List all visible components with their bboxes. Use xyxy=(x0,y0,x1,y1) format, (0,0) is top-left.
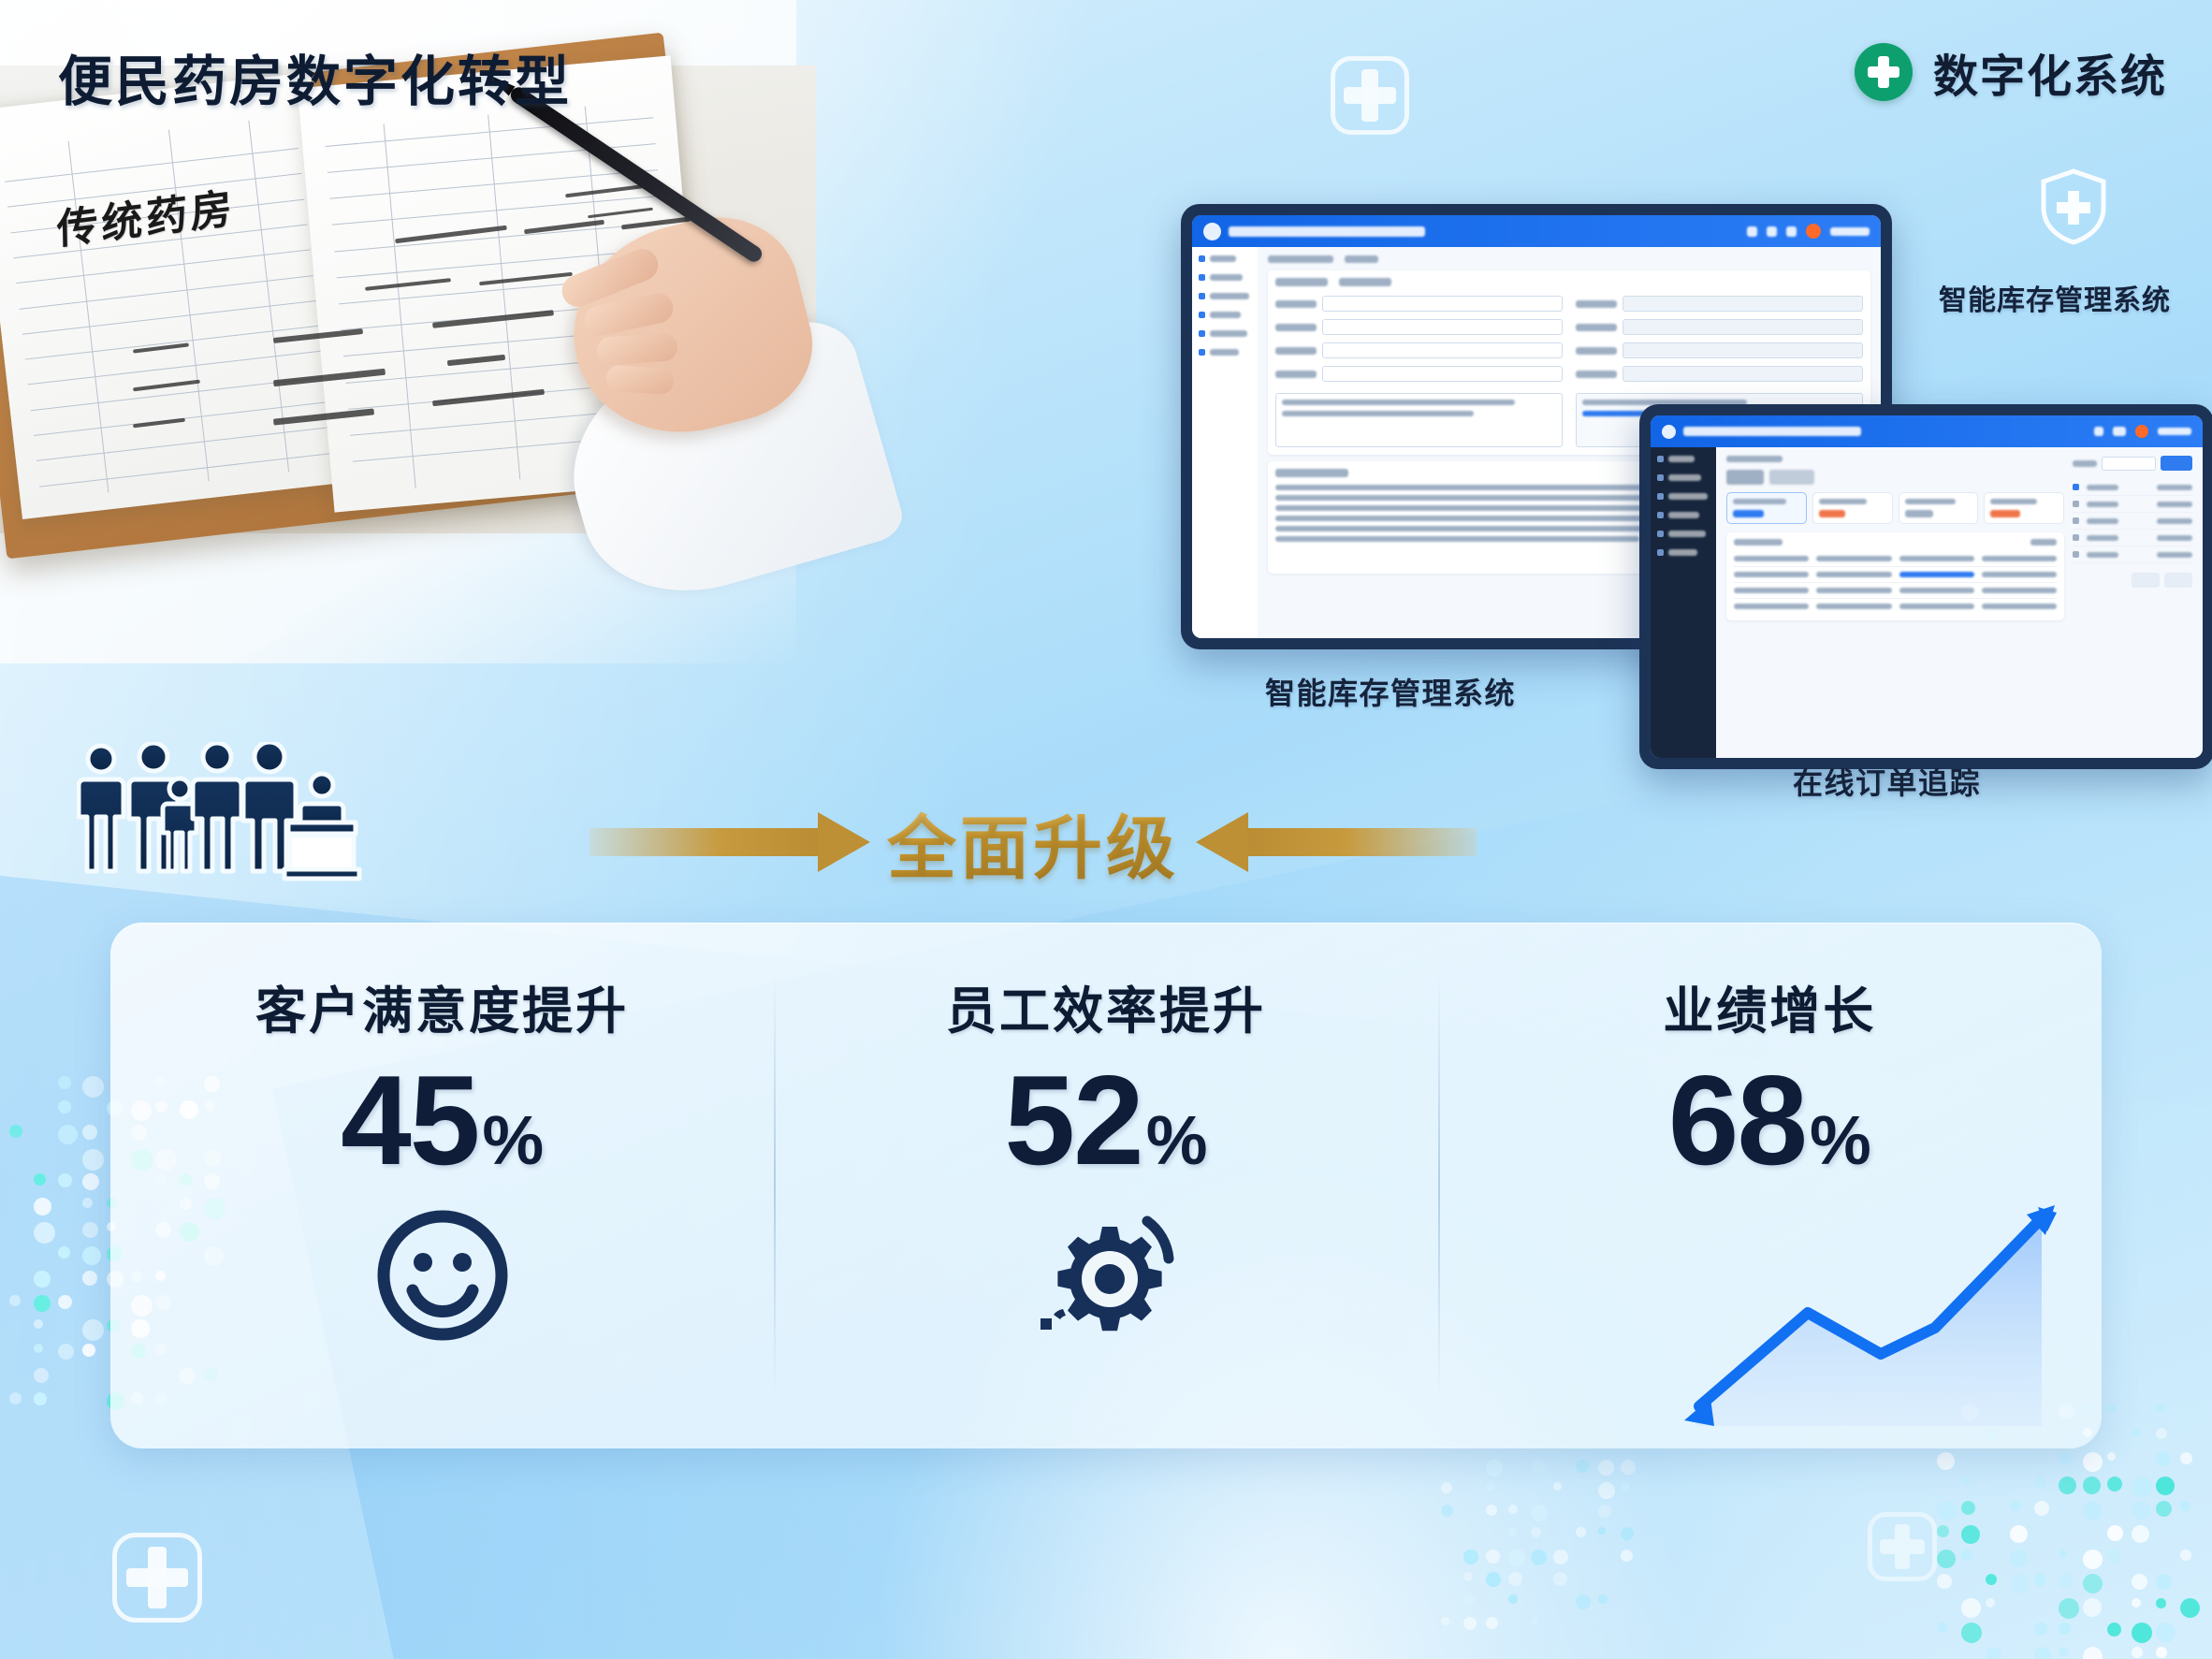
sidebar-item-icon xyxy=(1199,293,1205,299)
stat-label: 业绩增长 xyxy=(1663,969,1876,1043)
breadcrumb-tail-blurred xyxy=(1345,255,1378,263)
search-button[interactable] xyxy=(2161,456,2192,471)
sidebar-item[interactable] xyxy=(1657,474,1710,481)
stat-value: 45 % xyxy=(341,1056,544,1184)
sidebar-item-label-blurred xyxy=(1210,330,1247,337)
form-tab-1[interactable] xyxy=(1275,278,1328,286)
tab-2[interactable] xyxy=(1769,470,1814,485)
sidebar-item-label-blurred xyxy=(1210,349,1239,356)
kpi-card[interactable] xyxy=(1984,492,2064,524)
sidebar-item-icon xyxy=(1657,512,1664,518)
user-name-blurred xyxy=(1830,227,1870,236)
gear-icon xyxy=(1031,1204,1181,1346)
user-avatar[interactable] xyxy=(1806,224,1821,239)
stat-number: 68 xyxy=(1668,1056,1806,1184)
sidebar-item-label-blurred xyxy=(1210,255,1236,262)
stat-value: 52 % xyxy=(1004,1056,1207,1184)
sidebar-item-icon xyxy=(1657,493,1664,500)
rounded-cross-outline-icon-bottom-left xyxy=(112,1533,202,1623)
topbar-action-3[interactable] xyxy=(1786,226,1797,237)
sidebar-item-icon xyxy=(1657,531,1664,537)
user-name-blurred xyxy=(2158,428,2191,435)
tab-1[interactable] xyxy=(1726,470,1764,485)
sidebar-item[interactable] xyxy=(1199,349,1251,356)
finger-ring xyxy=(596,332,678,366)
stat-label: 员工效率提升 xyxy=(946,969,1266,1043)
sidebar-item-label-blurred xyxy=(1210,293,1249,299)
user-avatar[interactable] xyxy=(2135,425,2148,438)
green-cross-badge-icon xyxy=(1855,43,1913,101)
sidebar-item-icon xyxy=(1657,456,1664,462)
sidebar-item-icon xyxy=(1199,312,1205,318)
rounded-cross-outline-icon-top xyxy=(1331,56,1409,135)
sidebar-item-icon xyxy=(1657,549,1664,556)
shield-cross-icon xyxy=(2040,168,2107,245)
kpi-card[interactable] xyxy=(1899,492,1979,524)
table-row[interactable] xyxy=(1734,599,2057,614)
form-row[interactable] xyxy=(1275,296,1563,312)
growth-chart-arrow-icon xyxy=(1667,1173,2070,1445)
sidebar-item[interactable] xyxy=(1199,330,1251,337)
breadcrumb-blurred xyxy=(1268,255,1333,263)
page-title: 便民药房数字化转型 xyxy=(58,37,572,116)
stat-number: 52 xyxy=(1004,1056,1142,1184)
device2-caption: 在线订单追踪 xyxy=(1793,760,1981,803)
hand-writing xyxy=(451,150,844,543)
list-item[interactable] xyxy=(2073,546,2192,563)
form-row[interactable] xyxy=(1275,342,1563,358)
sidebar-item-label-blurred xyxy=(1668,549,1697,556)
finger-pinky xyxy=(605,365,675,396)
device2-main xyxy=(1716,447,2203,758)
traditional-pharmacy-photo: 传统药房 xyxy=(0,65,816,533)
table-row[interactable] xyxy=(1734,567,2057,583)
topbar-action-2[interactable] xyxy=(1767,226,1777,237)
form-row[interactable] xyxy=(1576,319,1863,335)
topbar-action-1[interactable] xyxy=(1747,226,1757,237)
stat-value: 68 % xyxy=(1668,1056,1871,1184)
orders-table xyxy=(1726,532,2064,620)
dot-matrix-pattern-bottom-center xyxy=(1441,1460,1643,1639)
list-item[interactable] xyxy=(2073,513,2192,530)
sidebar-item[interactable] xyxy=(1199,274,1251,281)
sidebar-item-label-blurred xyxy=(1668,493,1708,500)
stats-panel: 客户满意度提升 45 % 员工效率提升 52 % xyxy=(110,923,2102,1448)
pager-next-button[interactable] xyxy=(2164,573,2192,588)
list-item[interactable] xyxy=(2073,479,2192,496)
stat-unit: % xyxy=(482,1100,544,1180)
sidebar-item[interactable] xyxy=(1199,293,1251,299)
pager-prev-button[interactable] xyxy=(2132,573,2160,588)
sidebar-item[interactable] xyxy=(1657,493,1710,500)
sidebar-item[interactable] xyxy=(1657,531,1710,537)
stat-label: 客户满意度提升 xyxy=(255,969,629,1043)
side-system-label: 智能库存管理系统 xyxy=(1939,277,2171,318)
device1-caption: 智能库存管理系统 xyxy=(1265,670,1516,713)
sidebar-item-label-blurred xyxy=(1668,474,1701,481)
app-title-blurred xyxy=(1229,226,1425,237)
sidebar-item-icon xyxy=(1199,255,1205,262)
upgrade-label: 全面升级 xyxy=(887,793,1179,893)
upgrade-banner: 全面升级 xyxy=(589,786,1694,898)
stat-card-revenue-growth: 业绩增长 68 % xyxy=(1438,923,2102,1448)
topbar-action-1[interactable] xyxy=(2094,427,2103,436)
list-item[interactable] xyxy=(2073,496,2192,513)
stat-card-staff-efficiency: 员工效率提升 52 % xyxy=(774,923,1437,1448)
sidebar-item-icon xyxy=(1657,474,1664,481)
brand-lockup: 数字化系统 xyxy=(1855,39,2167,105)
sidebar-item-icon xyxy=(1199,274,1205,281)
form-row[interactable] xyxy=(1275,366,1563,382)
kpi-card[interactable] xyxy=(1726,492,1807,524)
sidebar-item[interactable] xyxy=(1657,549,1710,556)
smiley-face-icon xyxy=(371,1204,514,1346)
app-logo-icon xyxy=(1203,223,1221,240)
app-logo-icon xyxy=(1662,425,1676,439)
table-row[interactable] xyxy=(1734,583,2057,599)
sidebar-item-icon xyxy=(1199,330,1205,337)
sidebar-item-label-blurred xyxy=(1668,512,1699,518)
device-order-screen[interactable] xyxy=(1639,404,2212,769)
stat-card-customer-satisfaction: 客户满意度提升 45 % xyxy=(110,923,774,1448)
form-tab-2[interactable] xyxy=(1339,278,1391,286)
arrow-right-gold-icon xyxy=(589,821,870,864)
device1-topbar xyxy=(1192,215,1881,247)
brand-label: 数字化系统 xyxy=(1933,39,2167,105)
sidebar-item[interactable] xyxy=(1199,312,1251,318)
sidebar-item-label-blurred xyxy=(1210,274,1243,281)
sidebar-item[interactable] xyxy=(1657,512,1710,518)
sidebar-item[interactable] xyxy=(1199,255,1251,262)
form-row[interactable] xyxy=(1576,342,1863,358)
form-row[interactable] xyxy=(1576,296,1863,312)
device2-sidebar[interactable] xyxy=(1651,447,1716,758)
sidebar-item-icon xyxy=(1199,349,1205,356)
sidebar-item[interactable] xyxy=(1657,456,1710,462)
sidebar-item-label-blurred xyxy=(1668,456,1695,462)
stat-unit: % xyxy=(1810,1100,1871,1180)
queue-of-customers-icon xyxy=(77,742,376,882)
sidebar-item-label-blurred xyxy=(1668,531,1706,537)
arrow-left-gold-icon xyxy=(1196,821,1477,864)
rounded-cross-outline-icon-bottom-right xyxy=(1868,1512,1937,1581)
stat-number: 45 xyxy=(341,1056,478,1184)
device1-sidebar[interactable] xyxy=(1192,247,1258,638)
stat-unit: % xyxy=(1146,1100,1208,1180)
form-row[interactable] xyxy=(1576,366,1863,382)
device2-topbar xyxy=(1651,415,2203,447)
app-title-blurred xyxy=(1683,427,1861,436)
list-item[interactable] xyxy=(2073,530,2192,546)
topbar-action-2[interactable] xyxy=(2113,427,2126,436)
table-row[interactable] xyxy=(1734,551,2057,567)
kpi-card[interactable] xyxy=(1812,492,1893,524)
form-row[interactable] xyxy=(1275,319,1563,335)
sidebar-item-label-blurred xyxy=(1210,312,1241,318)
